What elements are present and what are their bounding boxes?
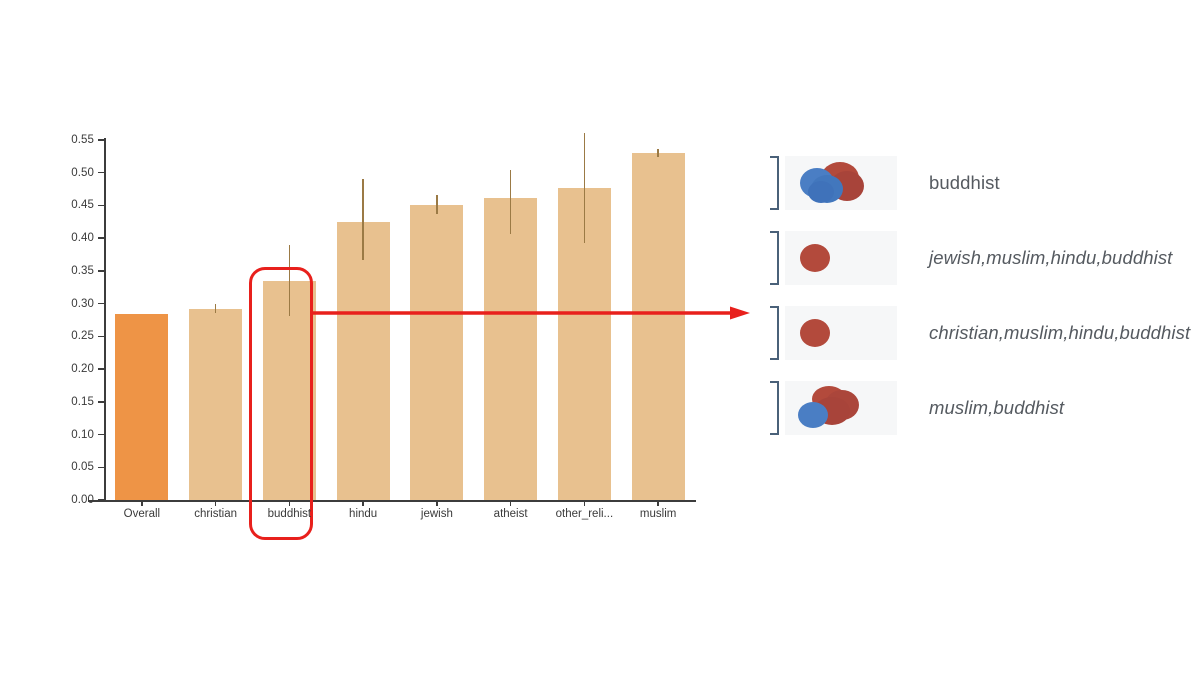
x-axis-label-jewish: jewish [421, 508, 453, 520]
y-axis-tick-label: 0.40 [71, 232, 94, 244]
x-axis-tick [436, 500, 437, 506]
y-axis-tick [98, 205, 105, 207]
y-axis-tick-label: 0.10 [71, 429, 94, 441]
bracket-icon [770, 156, 783, 210]
error-bar [215, 304, 217, 313]
x-axis-tick [141, 500, 142, 506]
y-axis-tick-label: 0.50 [71, 167, 94, 179]
legend-item[interactable]: muslim,buddhist [770, 377, 1190, 439]
error-bar [510, 170, 512, 234]
legend-label: muslim,buddhist [929, 397, 1064, 419]
y-axis-tick [98, 172, 105, 174]
blob-swatch-1 [785, 231, 897, 285]
y-axis-tick-label: 0.25 [71, 330, 94, 342]
blob-cluster-icon [785, 306, 897, 360]
y-axis-tick-label: 0.05 [71, 461, 94, 473]
y-axis-tick [98, 139, 105, 141]
blob-cluster-icon [785, 231, 897, 285]
blob-cluster-icon [785, 156, 897, 210]
error-bar [584, 133, 586, 242]
bar-chart-panel: 0.000.050.100.150.200.250.300.350.400.45… [0, 0, 760, 675]
x-axis-label-overall: Overall [124, 508, 160, 520]
bracket-icon [770, 231, 783, 285]
y-axis-tick [98, 434, 105, 436]
y-axis-tick [98, 499, 105, 501]
legend-label: buddhist [929, 172, 1000, 194]
x-axis-tick [289, 500, 290, 506]
x-axis-tick [510, 500, 511, 506]
blob-swatch-2 [785, 306, 897, 360]
y-axis-tick [98, 303, 105, 305]
legend-item[interactable]: buddhist [770, 152, 1190, 214]
y-axis-tick [98, 270, 105, 272]
error-bar [657, 149, 659, 158]
x-axis-tick [215, 500, 216, 506]
y-axis-tick-label: 0.35 [71, 265, 94, 277]
legend-item[interactable]: christian,muslim,hindu,buddhist [770, 302, 1190, 364]
y-axis-tick [98, 336, 105, 338]
blob-swatch-0 [785, 156, 897, 210]
x-axis-tick [584, 500, 585, 506]
y-axis-tick-label: 0.20 [71, 363, 94, 375]
bracket-icon [770, 381, 783, 435]
x-axis-label-other_reli: other_reli... [556, 508, 614, 520]
blob-swatch-3 [785, 381, 897, 435]
x-axis-line [88, 500, 696, 502]
x-axis-label-christian: christian [194, 508, 237, 520]
y-axis-tick [98, 467, 105, 469]
y-axis-tick [98, 401, 105, 403]
bar-hindu[interactable] [337, 222, 390, 500]
bar-muslim[interactable] [632, 153, 685, 500]
y-axis-tick [98, 237, 105, 239]
legend-label: christian,muslim,hindu,buddhist [929, 322, 1190, 344]
y-axis-tick [98, 368, 105, 370]
x-axis-tick [657, 500, 658, 506]
x-axis-label-buddhist: buddhist [268, 508, 311, 520]
x-axis-label-hindu: hindu [349, 508, 377, 520]
legend-panel: buddhist jewish,muslim,hindu,buddhist ch… [770, 152, 1190, 492]
x-axis-label-atheist: atheist [494, 508, 528, 520]
y-axis: 0.000.050.100.150.200.250.300.350.400.45… [0, 0, 105, 675]
blob-cluster-icon [785, 381, 897, 435]
y-axis-tick-label: 0.00 [71, 494, 94, 506]
y-axis-tick-label: 0.55 [71, 134, 94, 146]
bar-christian[interactable] [189, 309, 242, 500]
legend-label: jewish,muslim,hindu,buddhist [929, 247, 1172, 269]
bar-overall[interactable] [115, 314, 168, 500]
bar-jewish[interactable] [410, 205, 463, 500]
highlight-annotation-box [249, 267, 313, 540]
error-bar [436, 195, 438, 214]
legend-item[interactable]: jewish,muslim,hindu,buddhist [770, 227, 1190, 289]
bracket-icon [770, 306, 783, 360]
y-axis-tick-label: 0.45 [71, 199, 94, 211]
x-axis-label-muslim: muslim [640, 508, 676, 520]
plot-area [105, 140, 695, 500]
x-axis-tick [362, 500, 363, 506]
y-axis-tick-label: 0.15 [71, 396, 94, 408]
y-axis-tick-label: 0.30 [71, 298, 94, 310]
bar-atheist[interactable] [484, 198, 537, 500]
error-bar [362, 179, 364, 260]
